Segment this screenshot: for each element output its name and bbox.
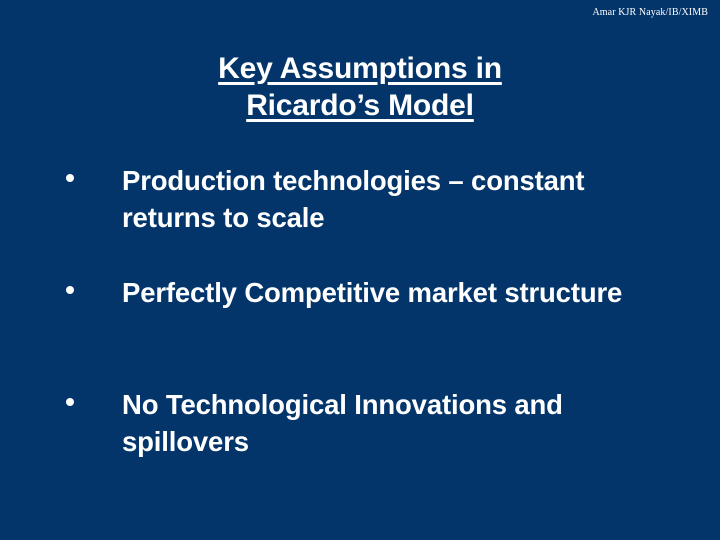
bullet-text: Production technologies – constant retur… [0, 162, 720, 236]
slide-canvas: Amar KJR Nayak/IB/XIMB Key Assumptions i… [0, 0, 720, 540]
title-line-2-wrap: Ricardo’s Model [0, 87, 720, 124]
bullet-text: No Technological Innovations and spillov… [0, 386, 720, 460]
bullet-list: Production technologies – constant retur… [0, 162, 720, 498]
bullet-dot-icon [66, 174, 74, 182]
title-line-1: Key Assumptions in [218, 50, 502, 87]
list-item: Perfectly Competitive market structure [0, 274, 720, 348]
bullet-text: Perfectly Competitive market structure [0, 274, 720, 311]
list-item: Production technologies – constant retur… [0, 162, 720, 236]
bullet-dot-icon [66, 286, 74, 294]
title-line-2: Ricardo’s Model [246, 87, 474, 124]
list-item: No Technological Innovations and spillov… [0, 386, 720, 460]
page-title: Key Assumptions in Ricardo’s Model [0, 50, 720, 124]
header-credit: Amar KJR Nayak/IB/XIMB [592, 7, 708, 19]
title-line-1-wrap: Key Assumptions in [0, 50, 720, 87]
bullet-dot-icon [66, 398, 74, 406]
